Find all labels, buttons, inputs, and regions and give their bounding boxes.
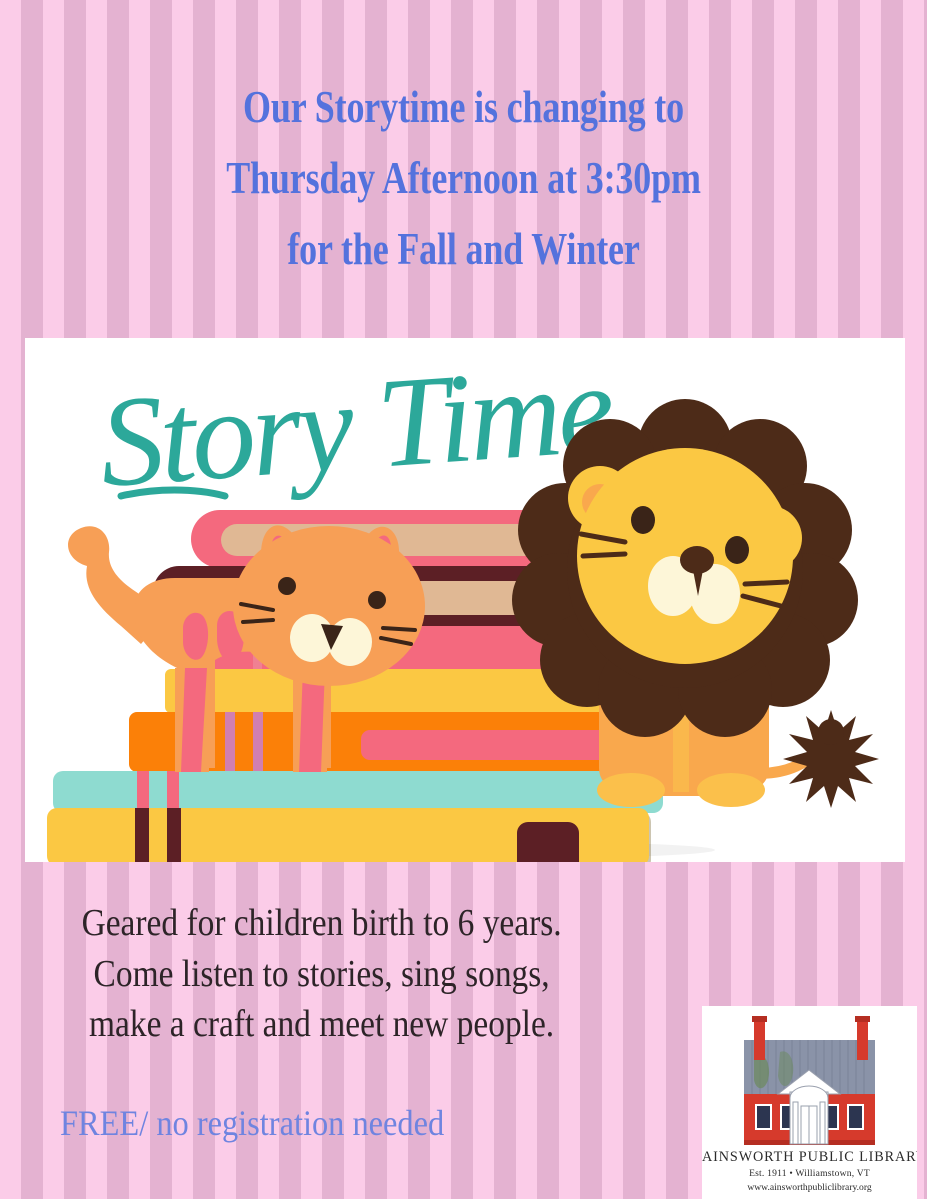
logo-chimney-right-cap [855, 1016, 870, 1022]
body-copy-line-2: Come listen to stories, sing songs, [18, 949, 625, 1000]
book-yellow-bottom [47, 808, 651, 862]
library-building-icon [702, 1006, 917, 1151]
story-time-script-title: Story Time [95, 338, 616, 514]
cat-eye-left [278, 577, 296, 595]
logo-established: Est. 1911 • Williamstown, VT [702, 1167, 917, 1181]
logo-chimney-left-cap [752, 1016, 767, 1022]
logo-library-name: AINSWORTH PUBLIC LIBRARY [702, 1149, 917, 1167]
page-title: Our Storytime is changing to Thursday Af… [93, 72, 835, 285]
cat-eye-right [368, 591, 386, 609]
headline-line-1: Our Storytime is changing to [93, 72, 835, 143]
logo-chimney-right [857, 1018, 868, 1060]
logo-caption: AINSWORTH PUBLIC LIBRARY Est. 1911 • Wil… [702, 1149, 917, 1195]
storytime-illustration: Story Time [25, 338, 905, 862]
body-copy-line-1: Geared for children birth to 6 years. [18, 898, 625, 949]
lion-nose [680, 546, 714, 574]
headline-line-3: for the Fall and Winter [93, 214, 835, 285]
book-cyan [53, 771, 663, 813]
body-copy-line-3: make a craft and meet new people. [18, 999, 625, 1050]
free-registration-note: FREE/ no registration needed [60, 1104, 444, 1144]
logo-chimney-left [754, 1018, 765, 1060]
headline-line-2: Thursday Afternoon at 3:30pm [93, 143, 835, 214]
logo-url: www.ainsworthpubliclibrary.org [702, 1181, 917, 1194]
body-copy: Geared for children birth to 6 years. Co… [18, 898, 625, 1050]
illustration-panel: Story Time [25, 338, 905, 862]
lion-eye-right [725, 536, 749, 564]
lion-paw-right [697, 773, 765, 807]
lion-paw-left [597, 773, 665, 807]
lion-eye-left [631, 506, 655, 534]
storytime-poster: Our Storytime is changing to Thursday Af… [0, 0, 927, 1199]
cat-stripe-1 [183, 613, 208, 660]
lion-tail-tuft [783, 710, 879, 808]
library-logo: AINSWORTH PUBLIC LIBRARY Est. 1911 • Wil… [702, 1006, 917, 1199]
